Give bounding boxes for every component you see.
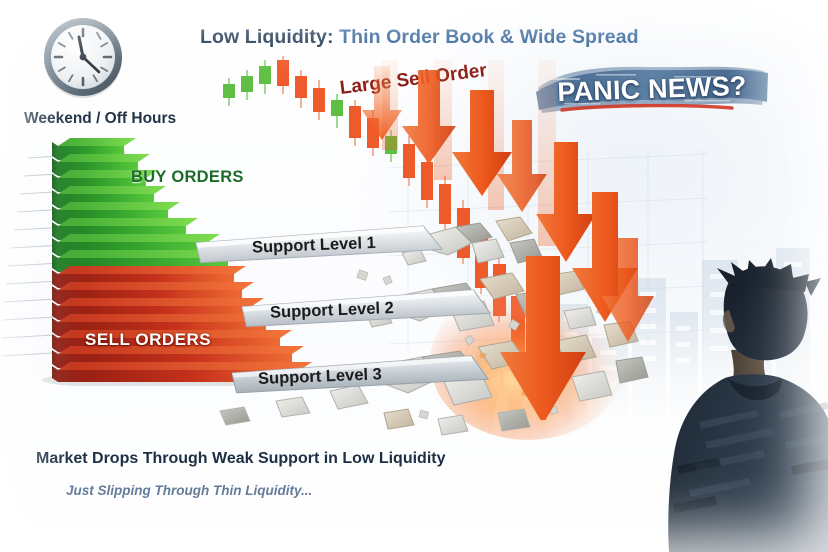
page-title: Low Liquidity: Thin Order Book & Wide Sp… bbox=[200, 26, 640, 49]
caption-sub: Just Slipping Through Thin Liquidity... bbox=[66, 483, 312, 498]
down-arrow-icon bbox=[362, 66, 654, 420]
sell-pressure-arrows bbox=[330, 60, 660, 420]
clock-icon bbox=[37, 12, 129, 104]
caption-main: Market Drops Through Weak Support in Low… bbox=[36, 450, 445, 468]
person-silhouette-icon bbox=[659, 252, 828, 552]
weekend-label: Weekend / Off Hours bbox=[24, 110, 176, 128]
title-rest: Thin Order Book & Wide Spread bbox=[334, 26, 639, 48]
infographic-canvas: Low Liquidity: Thin Order Book & Wide Sp… bbox=[0, 0, 828, 552]
title-lead: Low Liquidity: bbox=[200, 26, 334, 48]
